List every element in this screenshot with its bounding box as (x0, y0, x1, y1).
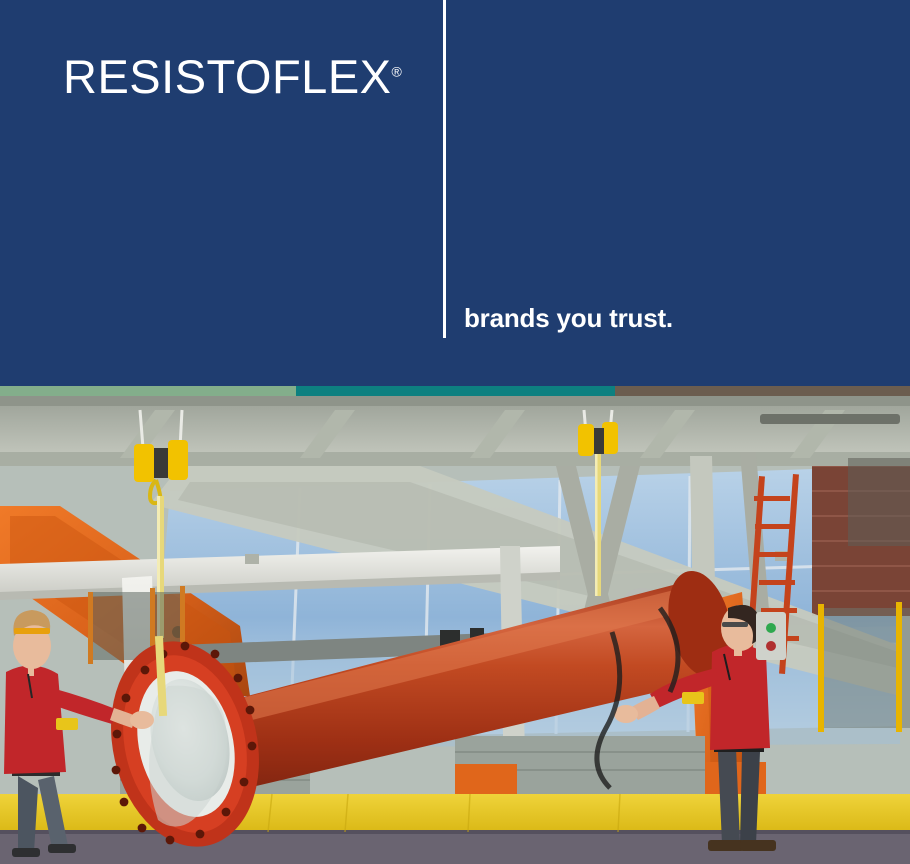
factory-scene-illustration (0, 396, 910, 864)
safety-glasses-icon (14, 628, 50, 634)
orange-panel-mid (455, 764, 517, 796)
brand-logo: RESISTOFLEX® (63, 53, 402, 100)
factory-photo (0, 396, 910, 864)
beam-plate-left (245, 554, 259, 564)
worker-left-tool (56, 718, 78, 730)
worker-left-hand (130, 711, 154, 729)
ceiling-recess (848, 458, 910, 546)
worker-right-shirt (710, 644, 770, 750)
registered-trademark-icon: ® (392, 63, 402, 79)
worker-right-hand (614, 705, 638, 723)
trolley-block-d (602, 422, 618, 454)
ceiling-top-edge (0, 396, 910, 406)
worker-right-neck (734, 646, 742, 656)
trolley-block-c (578, 424, 594, 456)
status-light-red (766, 641, 776, 651)
status-light-green (766, 623, 776, 633)
worker-right-tool (682, 692, 704, 704)
guard-fence-right (818, 602, 910, 732)
worker-right-shoe-a (708, 840, 744, 851)
brand-header: RESISTOFLEX® brands you trust. (0, 0, 910, 386)
vertical-divider (443, 0, 446, 338)
trolley-sheave-right (594, 428, 604, 454)
trolley-block-b (168, 440, 188, 480)
floor-edge-line (0, 830, 910, 834)
cover-page: RESISTOFLEX® brands you trust. (0, 0, 910, 864)
worker-right-glasses-icon (722, 622, 748, 627)
control-panel (756, 612, 786, 660)
trolley-block-a (134, 444, 154, 482)
worker-left-shoe-b (48, 844, 76, 853)
trolley-sheave (154, 448, 168, 478)
worker-right-shoe-b (740, 840, 776, 851)
worker-left-shoe-a (12, 848, 40, 857)
ceiling-light-fixture (760, 414, 900, 424)
brand-logo-wordmark: RESISTOFLEX (63, 50, 392, 103)
brand-tagline: brands you trust. (464, 303, 673, 334)
